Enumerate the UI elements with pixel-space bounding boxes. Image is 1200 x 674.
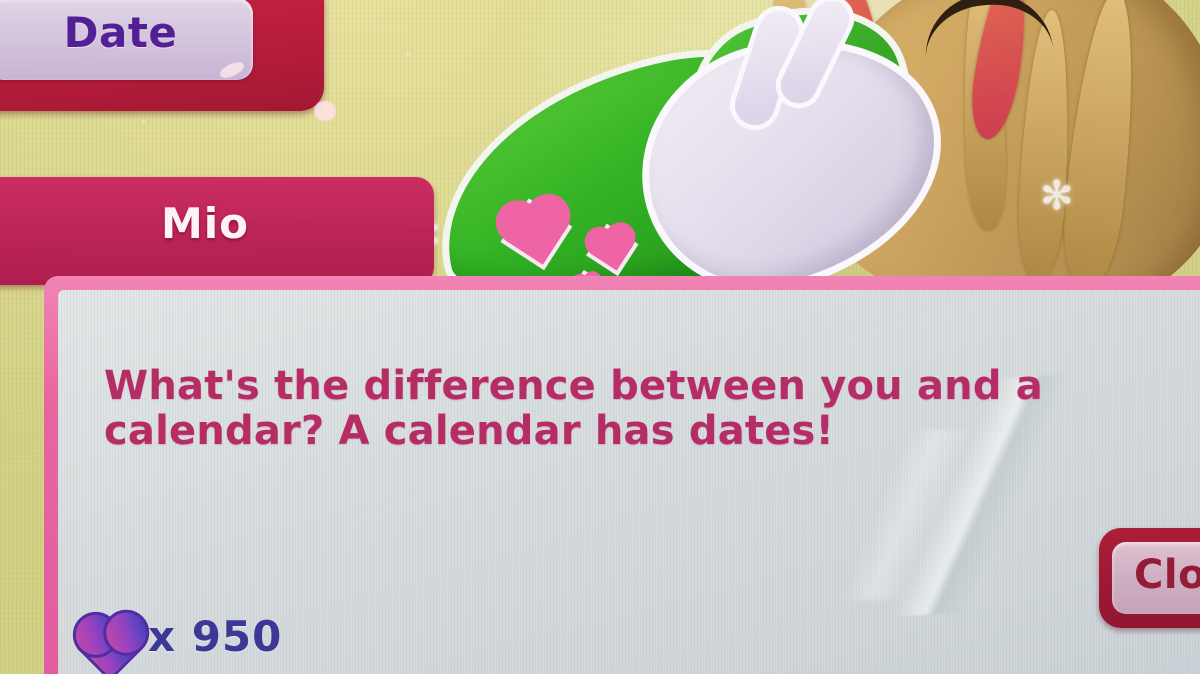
speaker-nameplate: Mio	[0, 177, 434, 285]
date-button-label: Date	[0, 8, 253, 57]
heart-counter-value: x 950	[148, 612, 282, 661]
date-button[interactable]: Date	[0, 0, 324, 111]
dialog-text-line-1: What's the difference between you and a	[104, 363, 1043, 409]
sleeve-heart-icon	[592, 229, 633, 270]
game-screen: ✻ ✻ Date Mio What's the difference betwe…	[0, 0, 1200, 674]
close-button[interactable]: Close	[1099, 528, 1200, 628]
date-button-bead	[314, 101, 336, 121]
date-button-plate: Date	[0, 0, 253, 80]
sleeve-heart-icon	[506, 204, 567, 265]
heart-icon	[80, 613, 134, 661]
dialog-text-line-2: calendar? A calendar has dates!	[104, 408, 834, 454]
date-button-gloss	[218, 59, 247, 81]
close-button-plate: Close	[1112, 542, 1200, 614]
speaker-name-label: Mio	[0, 199, 434, 248]
screen-glare-secondary	[618, 430, 1178, 600]
dialog-box[interactable]: What's the difference between you and a …	[44, 276, 1200, 674]
dialog-box-inner: What's the difference between you and a …	[58, 290, 1200, 674]
heart-counter: x 950	[80, 612, 282, 661]
snowflake-icon: ✻	[1040, 176, 1074, 216]
close-button-label: Close	[1134, 552, 1200, 598]
